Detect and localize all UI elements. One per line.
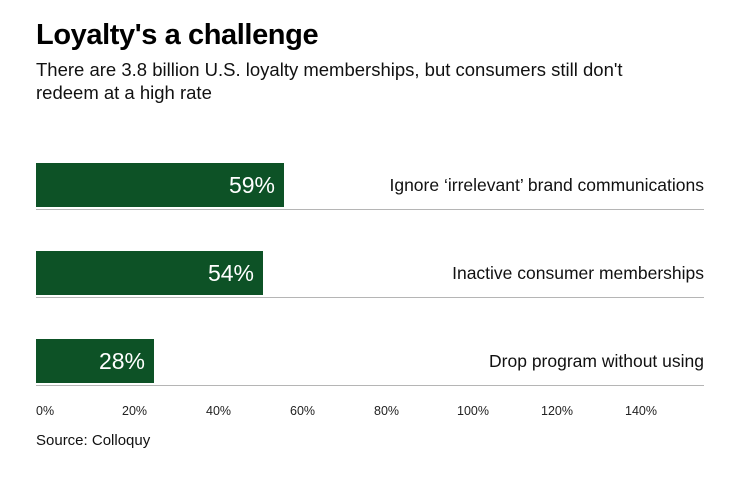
bar-ignore-irrelevant-brand-communications[interactable]: 59% [36,163,284,207]
x-axis-tick-label: 40% [206,404,231,418]
chart-subtitle: There are 3.8 billion U.S. loyalty membe… [36,58,676,104]
x-axis-tick-label: 100% [457,404,489,418]
row-divider [36,385,704,386]
bar-chart-plot-area: 59% Ignore ‘irrelevant’ brand communicat… [36,155,704,419]
source-note: Source: Colloquy [36,432,150,449]
row-divider [36,297,704,298]
bar-inactive-consumer-memberships[interactable]: 54% [36,251,263,295]
bar-category-label: Drop program without using [489,339,704,383]
x-axis-tick-label: 80% [374,404,399,418]
chart-container: Loyalty's a challenge There are 3.8 bill… [0,0,740,482]
x-axis-tick-label: 20% [122,404,147,418]
bar-row: 59% Ignore ‘irrelevant’ brand communicat… [36,155,704,243]
bar-row: 54% Inactive consumer memberships [36,243,704,331]
bar-value-label: 59% [229,174,275,197]
bar-category-label: Inactive consumer memberships [452,251,704,295]
bar-value-label: 54% [208,262,254,285]
bar-value-label: 28% [99,350,145,373]
bar-track: 54% Inactive consumer memberships [36,243,704,331]
x-axis: 0% 20% 40% 60% 80% 100% 120% 140% [36,404,704,422]
x-axis-tick-label: 120% [541,404,573,418]
bar-track: 59% Ignore ‘irrelevant’ brand communicat… [36,155,704,243]
chart-header: Loyalty's a challenge There are 3.8 bill… [36,18,708,104]
bar-category-label: Ignore ‘irrelevant’ brand communications [389,163,704,207]
x-axis-tick-label: 140% [625,404,657,418]
x-axis-tick-label: 60% [290,404,315,418]
x-axis-tick-label: 0% [36,404,54,418]
bar-drop-program-without-using[interactable]: 28% [36,339,154,383]
row-divider [36,209,704,210]
page-title: Loyalty's a challenge [36,18,708,52]
